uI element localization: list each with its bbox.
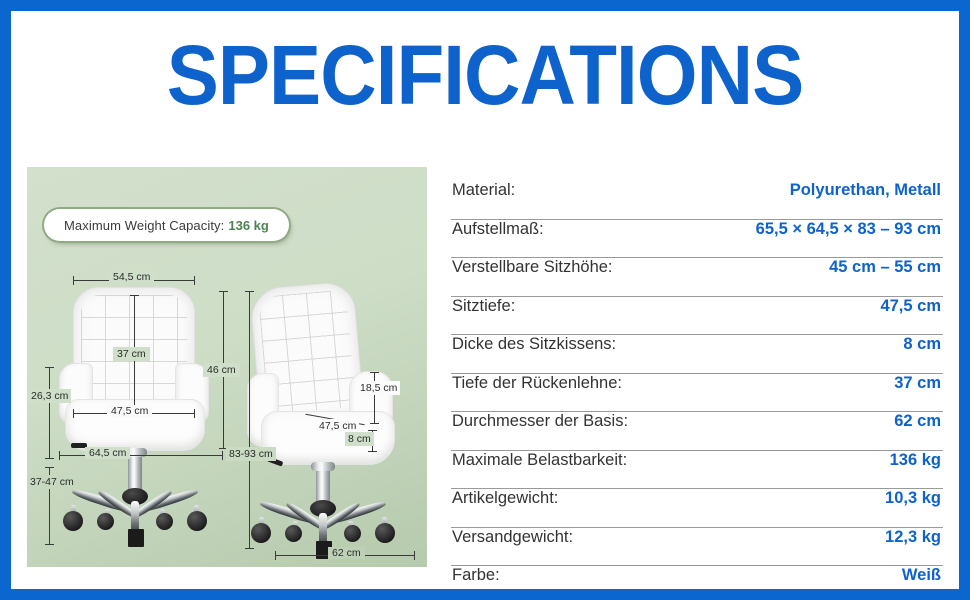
caster-wheel xyxy=(97,513,114,530)
dim-seat-to-back-top: 26,3 cm xyxy=(28,389,71,403)
dimcap xyxy=(45,467,54,468)
table-row: Material: Polyurethan, Metall xyxy=(451,181,943,220)
dimcap xyxy=(130,295,139,296)
caster-wheel xyxy=(156,513,173,530)
spec-value: 10,3 kg xyxy=(885,489,941,508)
spec-label: Maximale Belastbarkeit: xyxy=(452,451,627,470)
dimcap xyxy=(222,451,223,460)
table-row: Versandgewicht: 12,3 kg xyxy=(451,528,943,567)
dim-seat-height-range: 37-47 cm xyxy=(27,475,77,489)
spec-label: Material: xyxy=(452,181,515,200)
dimcap xyxy=(368,430,377,431)
page-title: SPECIFICATIONS xyxy=(44,25,926,125)
spec-sheet-root: SPECIFICATIONS Maximum Weight Capacity: … xyxy=(0,0,970,600)
dim-backrest-height: 37 cm xyxy=(113,347,150,361)
dimcap xyxy=(45,544,54,545)
spec-value: Polyurethan, Metall xyxy=(790,181,941,200)
dimline-base-width xyxy=(59,455,223,456)
spec-value: 12,3 kg xyxy=(885,528,941,547)
spec-value: 8 cm xyxy=(903,335,941,354)
spec-value: 47,5 cm xyxy=(880,297,941,316)
table-row: Maximale Belastbarkeit: 136 kg xyxy=(451,451,943,490)
table-row: Artikelgewicht: 10,3 kg xyxy=(451,489,943,528)
spec-label: Dicke des Sitzkissens: xyxy=(452,335,616,354)
dim-total-height: 83-93 cm xyxy=(226,447,276,461)
spec-value: 136 kg xyxy=(890,451,941,470)
dimline-seat-to-back-top xyxy=(49,367,50,459)
dimcap xyxy=(194,409,195,418)
dimcap xyxy=(59,451,60,460)
spec-value: 62 cm xyxy=(894,412,941,431)
spec-label: Farbe: xyxy=(452,566,500,585)
spec-label: Verstellbare Sitzhöhe: xyxy=(452,258,613,277)
caster-wheel xyxy=(251,523,271,543)
dim-armrest-height: 18,5 cm xyxy=(357,381,400,395)
dimcap xyxy=(45,367,54,368)
dimcap xyxy=(45,458,54,459)
dim-seat-depth: 47,5 cm xyxy=(316,419,359,433)
caster-wheel xyxy=(344,525,361,542)
table-row: Farbe: Weiß xyxy=(451,566,943,600)
table-row: Durchmesser der Basis: 62 cm xyxy=(451,412,943,451)
dimcap xyxy=(245,291,254,292)
spec-value: Weiß xyxy=(902,566,941,585)
specifications-table: Material: Polyurethan, Metall Aufstellma… xyxy=(451,181,943,600)
table-row: Sitztiefe: 47,5 cm xyxy=(451,297,943,336)
caster-wheel xyxy=(63,511,83,531)
spec-label: Tiefe der Rückenlehne: xyxy=(452,374,622,393)
dimcap xyxy=(370,372,379,373)
inner-white-panel: SPECIFICATIONS Maximum Weight Capacity: … xyxy=(11,11,959,589)
dimcap xyxy=(414,551,415,560)
caster-wheel xyxy=(375,523,395,543)
caster-wheel xyxy=(285,525,302,542)
dimcap xyxy=(73,276,74,285)
table-row: Aufstellmaß: 65,5 × 64,5 × 83 – 93 cm xyxy=(451,220,943,259)
spec-label: Artikelgewicht: xyxy=(452,489,558,508)
spec-label: Aufstellmaß: xyxy=(452,220,544,239)
dim-base-diameter: 62 cm xyxy=(328,547,365,559)
spec-value: 45 cm – 55 cm xyxy=(829,258,941,277)
spec-label: Sitztiefe: xyxy=(452,297,515,316)
spec-label: Versandgewicht: xyxy=(452,528,573,547)
dim-back-total-height: 46 cm xyxy=(203,363,240,377)
product-image-panel: Maximum Weight Capacity: 136 kg xyxy=(27,167,427,567)
caster-front xyxy=(128,529,144,547)
dimcap xyxy=(194,276,195,285)
spec-value: 65,5 × 64,5 × 83 – 93 cm xyxy=(756,220,941,239)
dimcap xyxy=(245,548,254,549)
dimcap xyxy=(275,551,276,560)
gas-cylinder-collar-side xyxy=(311,462,335,471)
chair-side-view xyxy=(237,167,427,567)
dimcap xyxy=(370,423,379,424)
dim-base-width: 64,5 cm xyxy=(85,447,130,459)
spec-label: Durchmesser der Basis: xyxy=(452,412,628,431)
caster-wheel xyxy=(187,511,207,531)
dim-front-top-width: 54,5 cm xyxy=(109,271,154,283)
table-row: Tiefe der Rückenlehne: 37 cm xyxy=(451,374,943,413)
dimcap xyxy=(73,409,74,418)
table-row: Verstellbare Sitzhöhe: 45 cm – 55 cm xyxy=(451,258,943,297)
dim-cushion-thickness: 8 cm xyxy=(345,432,374,446)
dim-seat-width: 47,5 cm xyxy=(107,405,152,417)
dimline-armrest-height xyxy=(374,372,375,424)
spec-value: 37 cm xyxy=(894,374,941,393)
dimcap xyxy=(368,451,377,452)
table-row: Dicke des Sitzkissens: 8 cm xyxy=(451,335,943,374)
dimcap xyxy=(219,291,228,292)
dimline-total-height xyxy=(249,291,250,549)
